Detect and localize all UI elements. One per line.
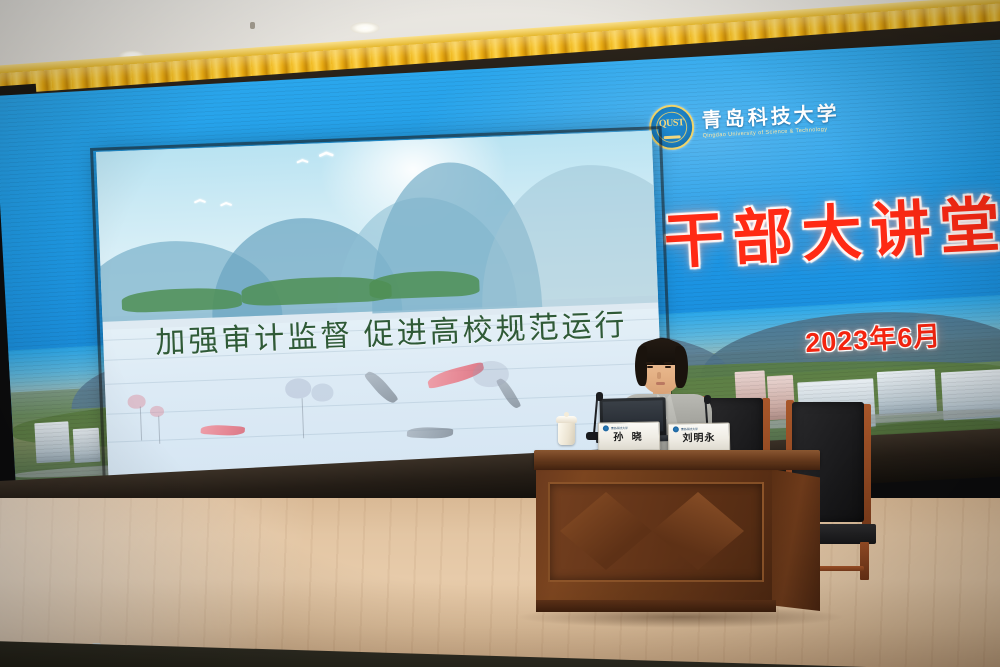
slide-lotus (285, 378, 312, 399)
nameplate-seal-icon (673, 426, 679, 432)
eyebrow-left (646, 362, 654, 364)
tea-cup-knob (564, 412, 569, 417)
university-name-block: 青岛科技大学 Qingdao University of Science & T… (701, 104, 840, 140)
hair-side-right (675, 346, 688, 388)
seal-qust-text: QUST (651, 117, 693, 130)
podium (534, 450, 820, 618)
slide-lotus (311, 383, 334, 402)
nameplate-logo: 青岛科技大学 (603, 424, 659, 431)
podium-countertop-lip (534, 463, 820, 470)
slide-lotus (127, 394, 146, 409)
nose (657, 372, 661, 379)
nameplate: 青岛科技大学 刘明永 (668, 422, 730, 452)
slide-bird-icon (296, 158, 308, 164)
microphone-head-icon (704, 395, 711, 404)
nameplate-org: 青岛科技大学 (611, 426, 628, 430)
hair-side-left (635, 346, 647, 386)
nameplate-seal-icon (603, 425, 609, 431)
led-date: 2023年6月 (804, 314, 942, 360)
eyebrow-right (664, 362, 672, 364)
seal-bar (664, 135, 681, 139)
chair-leg (860, 542, 869, 580)
slide-bird-icon (194, 198, 206, 204)
eye-left (647, 366, 653, 368)
projection-screen: 加强审计监督 促进高校规范运行 (96, 131, 664, 482)
podium-side (772, 469, 820, 611)
slide-lotus (150, 406, 164, 418)
podium-diamond-left (560, 492, 652, 570)
podium-inlay-panel (548, 482, 764, 582)
slide-bird-icon (319, 150, 334, 158)
floor-light-reflection (0, 498, 420, 667)
podium-base-trim (536, 600, 776, 612)
nameplate-logo: 青岛科技大学 (673, 425, 729, 432)
university-seal-icon: QUST (648, 104, 695, 151)
mouth (656, 382, 665, 385)
eye-right (665, 366, 671, 368)
stage-apron (0, 641, 1000, 667)
tea-cup-lid (556, 416, 577, 423)
slide-koi-fish (407, 426, 453, 439)
sprinkler-icon (250, 22, 255, 29)
microphone-head-icon (596, 392, 603, 401)
slide-bird-icon (220, 201, 232, 207)
podium-diamond-right (652, 492, 744, 570)
led-headline: 干部大讲堂 (661, 176, 1000, 281)
tea-cup (558, 421, 575, 445)
nameplate-name: 刘明永 (669, 432, 729, 445)
lecture-hall-photo: QUST 青岛科技大学 Qingdao University of Scienc… (0, 0, 1000, 667)
nameplate: 青岛科技大学 孙 晓 (598, 421, 660, 451)
nameplate-org: 青岛科技大学 (681, 427, 698, 431)
slide-koi-fish (201, 424, 246, 437)
nameplate-name: 孙 晓 (599, 431, 659, 444)
